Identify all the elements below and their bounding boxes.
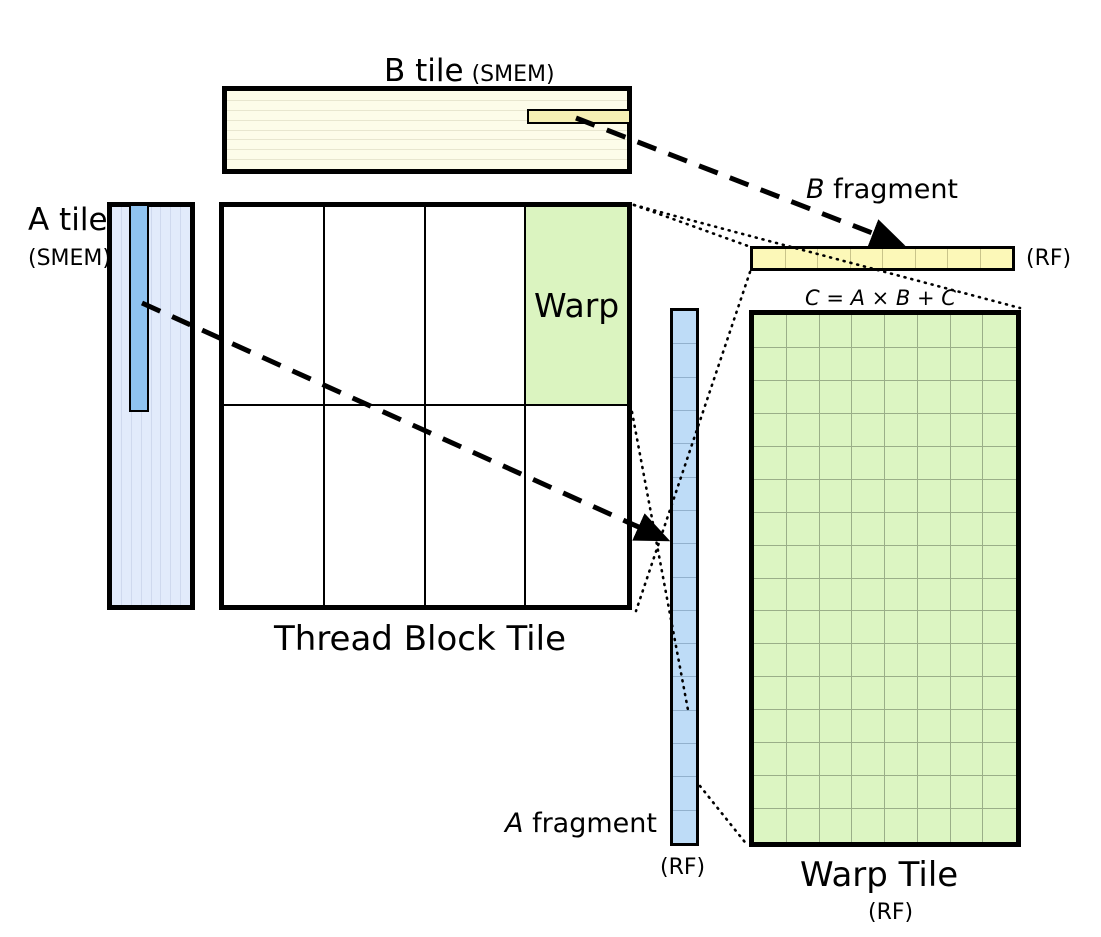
b-tile-title: B tile(SMEM) (384, 56, 555, 87)
warp-tile-cell (852, 447, 885, 480)
warp-tile-cell (885, 677, 918, 710)
warp-tile-cell (820, 611, 853, 644)
warp-tile-cell (951, 644, 984, 677)
thread-block-cell (426, 207, 527, 406)
warp-tile-cell (852, 480, 885, 513)
b-tile-row (227, 140, 627, 150)
warp-tile-cell (918, 381, 951, 414)
warp-tile-cell (852, 677, 885, 710)
warp-tile-cell (820, 546, 853, 579)
b-fragment-cell (851, 249, 884, 268)
warp-tile-cell (754, 546, 787, 579)
warp-tile-cell (787, 809, 820, 842)
diagram-canvas: B tile(SMEM) A tile (SMEM) (0, 0, 1101, 937)
warp-tile-cell (951, 743, 984, 776)
warp-tile-cell (918, 710, 951, 743)
a-tile-column (152, 207, 162, 605)
warp-tile-cell (787, 381, 820, 414)
warp-tile-cell (787, 414, 820, 447)
b-tile-highlighted-strip (527, 109, 631, 124)
warp-tile-cell (983, 546, 1016, 579)
warp-tile-cell (820, 776, 853, 809)
warp-tile-cell (885, 315, 918, 348)
warp-tile-cell (852, 611, 885, 644)
warp-tile-cell (820, 644, 853, 677)
b-tile-row (227, 160, 627, 169)
projection-a-fragment-to-warp-tile (700, 786, 748, 846)
warp-tile-cell (918, 776, 951, 809)
thread-block-grid: Warp (224, 207, 627, 605)
warp-tile-cell (787, 348, 820, 381)
warp-tile-cell (787, 513, 820, 546)
warp-tile-cell (754, 809, 787, 842)
warp-tile-cell (754, 447, 787, 480)
thread-block-cell (224, 406, 325, 605)
warp-tile-cell (951, 480, 984, 513)
a-tile-smem (107, 202, 195, 610)
b-fragment-cell (753, 249, 786, 268)
warp-cell-label: Warp (534, 286, 619, 325)
warp-tile-cell (787, 447, 820, 480)
warp-tile-cell (951, 710, 984, 743)
warp-tile-cell (852, 348, 885, 381)
warp-tile-cell (787, 743, 820, 776)
a-tile-columns (112, 207, 190, 605)
a-fragment-label-symbol: A (505, 808, 523, 839)
a-fragment-cell (673, 378, 696, 411)
warp-tile-cell (885, 513, 918, 546)
b-tile-title-memory: (SMEM) (472, 62, 555, 87)
warp-tile-cell (983, 776, 1016, 809)
a-fragment-cell (673, 711, 696, 744)
warp-tile-cell (983, 513, 1016, 546)
warp-tile-cell (951, 677, 984, 710)
warp-tile-cell (820, 809, 853, 842)
warp-tile-cell (820, 447, 853, 480)
b-fragment-cell (916, 249, 949, 268)
warp-tile-cell (885, 414, 918, 447)
warp-tile-cell (754, 611, 787, 644)
warp-tile-cell (951, 414, 984, 447)
warp-tile-cell (885, 644, 918, 677)
b-tile-row (227, 131, 627, 141)
warp-tile-cell (820, 677, 853, 710)
a-fragment-cell (673, 444, 696, 477)
warp-tile-cell (885, 480, 918, 513)
warp-tile-cell (885, 447, 918, 480)
warp-tile-cell (885, 710, 918, 743)
warp-tile-cell (885, 776, 918, 809)
warp-tile-cell (852, 381, 885, 414)
warp-tile-cell (918, 315, 951, 348)
warp-tile-cell (852, 710, 885, 743)
b-tile-row (227, 150, 627, 160)
warp-tile-cell (951, 611, 984, 644)
warp-tile-label: Warp Tile (800, 858, 958, 892)
warp-tile-cell (951, 513, 984, 546)
warp-tile-cell (983, 644, 1016, 677)
warp-tile-cell (754, 776, 787, 809)
warp-tile-cell (983, 480, 1016, 513)
warp-tile-cell (983, 809, 1016, 842)
a-fragment-cell (673, 511, 696, 544)
projection-warp-to-b-fragment-top (634, 205, 748, 246)
thread-block-cell (325, 207, 426, 406)
warp-tile-cell (787, 480, 820, 513)
warp-tile-cell (754, 677, 787, 710)
a-tile-title-main: A tile (28, 205, 108, 236)
warp-tile-cell (754, 381, 787, 414)
thread-block-cell (526, 406, 627, 605)
warp-tile-cell (852, 513, 885, 546)
warp-tile-cell (787, 611, 820, 644)
b-fragment-cell (981, 249, 1013, 268)
warp-tile-cell (983, 743, 1016, 776)
warp-tile-cell (918, 579, 951, 612)
b-fragment-rf (750, 246, 1015, 271)
a-fragment-label-rest: fragment (523, 808, 656, 839)
warp-tile-cell (787, 315, 820, 348)
warp-tile-cell (951, 809, 984, 842)
warp-tile-cell (852, 743, 885, 776)
warp-tile-cell (787, 710, 820, 743)
warp-tile-cell (885, 809, 918, 842)
warp-tile-cell (918, 546, 951, 579)
a-fragment-cell (673, 578, 696, 611)
warp-tile-cell (820, 579, 853, 612)
warp-tile-cell (852, 414, 885, 447)
warp-tile-cell (918, 348, 951, 381)
thread-block-cell (426, 406, 527, 605)
warp-tile-cell (820, 381, 853, 414)
a-fragment-cell (673, 644, 696, 677)
warp-tile-cell (754, 480, 787, 513)
warp-tile-cell (852, 579, 885, 612)
b-tile-title-main: B tile (384, 53, 464, 89)
a-fragment-cell (673, 744, 696, 777)
warp-tile-cell (754, 579, 787, 612)
a-tile-column (112, 207, 122, 605)
warp-tile-equation: C = A × B + C (805, 288, 956, 309)
b-fragment-cell (818, 249, 851, 268)
warp-tile-cell (852, 809, 885, 842)
warp-tile-cell (820, 513, 853, 546)
a-fragment-cell (673, 311, 696, 344)
warp-tile-cell (754, 710, 787, 743)
warp-tile-cell (820, 743, 853, 776)
warp-tile-cell (951, 315, 984, 348)
thread-block-tile-label: Thread Block Tile (274, 622, 566, 656)
warp-tile-cell (787, 677, 820, 710)
warp-tile-cell (983, 677, 1016, 710)
a-fragment-rf (670, 308, 699, 846)
a-fragment-cell (673, 611, 696, 644)
a-fragment-cell (673, 777, 696, 810)
a-tile-column (161, 207, 171, 605)
warp-tile-rf (749, 310, 1021, 847)
warp-tile-cell (918, 513, 951, 546)
b-fragment-cell (883, 249, 916, 268)
a-fragment-memory-label: (RF) (660, 857, 705, 879)
warp-tile-cell (918, 644, 951, 677)
warp-tile-cell (918, 414, 951, 447)
warp-tile-cell (852, 644, 885, 677)
a-tile-highlighted-strip (129, 206, 149, 412)
warp-tile-cell (885, 579, 918, 612)
warp-tile-memory-label: (RF) (868, 902, 913, 924)
thread-block-cell (224, 207, 325, 406)
b-fragment-cell (948, 249, 981, 268)
warp-tile-cell (820, 414, 853, 447)
warp-tile-cell (885, 743, 918, 776)
warp-tile-cell (918, 447, 951, 480)
b-tile-row (227, 91, 627, 101)
warp-tile-cell (983, 381, 1016, 414)
warp-tile-cell (820, 315, 853, 348)
b-fragment-label-rest: fragment (825, 174, 958, 205)
warp-tile-cell (918, 611, 951, 644)
warp-tile-cell (754, 414, 787, 447)
warp-tile-cell (787, 579, 820, 612)
warp-tile-cell (820, 480, 853, 513)
b-fragment-cell (786, 249, 819, 268)
warp-tile-cell (983, 611, 1016, 644)
b-fragment-label-symbol: B (806, 174, 825, 205)
warp-tile-cell (820, 710, 853, 743)
warp-tile-cell (820, 348, 853, 381)
warp-tile-cell (983, 447, 1016, 480)
a-tile-title-memory: (SMEM) (28, 248, 111, 270)
warp-tile-cell (983, 710, 1016, 743)
warp-tile-cell (852, 315, 885, 348)
thread-block-cell (325, 406, 426, 605)
warp-tile-cell (951, 776, 984, 809)
warp-tile-cell (983, 348, 1016, 381)
warp-tile-cell (918, 480, 951, 513)
warp-tile-cell (885, 381, 918, 414)
a-fragment-cell (673, 544, 696, 577)
warp-tile-cell (918, 677, 951, 710)
a-tile-column (181, 207, 190, 605)
thread-block-tile: Warp (219, 202, 632, 610)
warp-tile-cell (951, 579, 984, 612)
warp-tile-cell (852, 776, 885, 809)
warp-tile-cell (787, 546, 820, 579)
a-tile-column (171, 207, 181, 605)
warp-tile-grid (754, 315, 1016, 842)
warp-tile-cell (951, 381, 984, 414)
a-fragment-cell (673, 411, 696, 444)
warp-tile-cell (983, 414, 1016, 447)
a-fragment-label: A fragment (505, 810, 657, 837)
a-fragment-cell (673, 677, 696, 710)
warp-tile-cell (754, 315, 787, 348)
b-tile-smem (222, 86, 632, 174)
b-fragment-label: B fragment (806, 176, 958, 203)
warp-tile-cell (885, 611, 918, 644)
warp-tile-cell (754, 348, 787, 381)
a-fragment-cell (673, 478, 696, 511)
warp-tile-cell (852, 546, 885, 579)
warp-tile-cell (787, 644, 820, 677)
warp-tile-cell (951, 447, 984, 480)
b-fragment-memory-label: (RF) (1026, 248, 1071, 270)
warp-tile-cell (787, 776, 820, 809)
warp-tile-cell (951, 546, 984, 579)
warp-tile-cell (754, 644, 787, 677)
warp-tile-cell (983, 315, 1016, 348)
b-tile-rows (227, 91, 627, 169)
warp-tile-cell (983, 579, 1016, 612)
a-fragment-cell (673, 344, 696, 377)
warp-tile-cell (885, 546, 918, 579)
warp-tile-cell (885, 348, 918, 381)
warp-tile-cell (918, 809, 951, 842)
warp-cell: Warp (526, 207, 627, 406)
warp-tile-cell (754, 743, 787, 776)
a-fragment-cell (673, 811, 696, 843)
warp-tile-cell (918, 743, 951, 776)
warp-tile-cell (951, 348, 984, 381)
warp-tile-cell (754, 513, 787, 546)
